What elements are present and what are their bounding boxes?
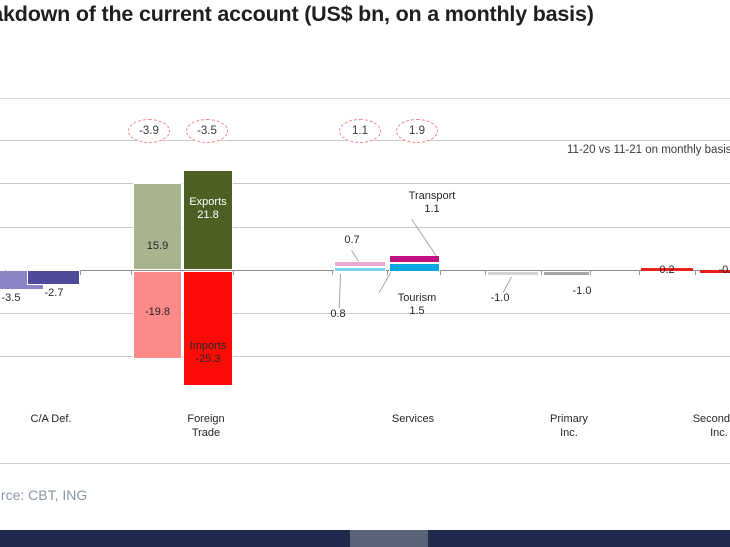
plot-area: -3.5 -2.7 15.9 Exports 21.8 -19.8 Import… [0,100,730,400]
axis-tick [695,270,696,275]
bar-primary-inc-2021[interactable] [543,271,590,276]
category-label-primary-inc: Primary Inc. [528,413,610,441]
leader-line-tourism [379,273,391,293]
bar-tourism-2020[interactable] [334,267,386,272]
callout-ellipse-4: 1.9 [396,119,438,143]
bar-value-exports-2021: Exports 21.8 [184,196,232,221]
source-caption: Source: CBT, ING [0,487,87,503]
bar-exports-2020[interactable]: 15.9 [133,183,182,270]
bar-ca-def-2021[interactable] [27,270,80,285]
bar-primary-inc-2020[interactable] [487,271,539,276]
bar-exports-2021[interactable]: Exports 21.8 [183,170,233,270]
bar-imports-2021[interactable]: Imports -25.3 [183,271,233,386]
bar-imports-2020[interactable]: -19.8 [133,271,182,359]
gridline [0,183,730,184]
leader-line-transport [411,219,436,256]
callout-ellipse-2: -3.5 [186,119,228,143]
callout-ellipse-1: -3.9 [128,119,170,143]
bar-value-secondary-inc-2020: 0.2 [647,264,687,277]
bar-value-tourism-2021: Tourism 1.5 [382,292,452,318]
gridline [0,313,730,314]
callout-ellipse-3: 1.1 [339,119,381,143]
page-title: Breakdown of the current account (US$ bn… [0,2,730,27]
leader-line-0-8 [339,274,341,308]
chart-slide: Breakdown of the current account (US$ bn… [0,0,730,547]
bar-value-imports-2020: -19.8 [134,306,181,319]
category-label-secondary-inc: Secondary Inc. [678,413,730,441]
axis-tick [233,270,234,275]
bar-value-ca-def-2021: -2.7 [29,287,79,300]
axis-tick [541,270,542,275]
footer-divider [0,463,730,464]
chart-note: 11-20 vs 11-21 on monthly basis [567,144,730,156]
axis-tick [332,270,333,275]
axis-tick [80,270,81,275]
axis-tick [485,270,486,275]
bar-transport-2021[interactable] [389,255,440,263]
axis-tick [440,270,441,275]
axis-tick [639,270,640,275]
bar-value-transport-2021: Transport 1.1 [392,190,472,216]
bar-value-tourism-2020: 0.8 [318,308,358,321]
axis-tick [387,270,388,275]
axis-tick [131,270,132,275]
category-label-ca-def: C/A Def. [10,413,92,427]
bottom-scrollbar-thumb[interactable] [350,530,428,547]
bar-value-exports-2020: 15.9 [134,240,181,253]
bar-value-primary-inc-2021: -1.0 [562,285,602,298]
axis-tick [5,270,6,275]
bar-tourism-2021[interactable] [389,263,440,272]
bar-value-transport-2020: 0.7 [332,234,372,247]
bar-value-primary-inc-2020: -1.0 [480,292,520,305]
axis-tick [590,270,591,275]
category-label-foreign-trade: Foreign Trade [165,413,247,441]
header-divider [0,98,730,99]
category-label-services: Services [372,413,454,427]
leader-line-primary-2020 [503,277,512,293]
leader-line-0-7 [351,250,359,262]
gridline [0,356,730,357]
bar-value-imports-2021: Imports -25.3 [184,340,232,365]
gridline [0,227,730,228]
bar-value-secondary-inc-2021: -0.5 [708,264,730,277]
